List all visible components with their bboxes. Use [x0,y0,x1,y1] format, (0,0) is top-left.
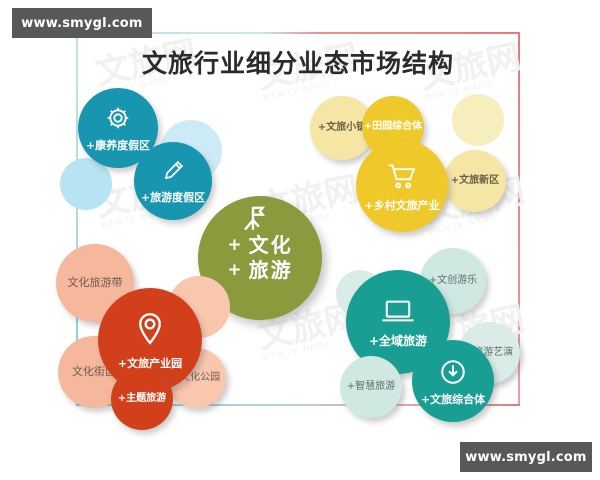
bubble-label: 文化旅游带 [68,277,123,289]
bubble-label: +康养度假区 [86,140,150,152]
bubble-label: +智慧旅游 [347,382,395,393]
hub-label-2: 旅游 [249,258,293,283]
url-badge-bottom-right: www.smygl.com [460,442,592,472]
bubble-label: +文旅小镇 [318,123,366,134]
bubble-zhuti-lvyou[interactable]: +主题旅游 [111,368,173,430]
location-pin-icon [133,311,167,354]
bubble-label: +文旅产业园 [118,358,182,370]
url-badge-top-left: www.smygl.com [12,8,152,38]
gear-icon [104,104,132,137]
bubble-lvyou-dujiaqu[interactable]: +旅游度假区 [134,142,212,220]
url-badge-text: www.smygl.com [465,450,586,465]
page-title: 文旅行业细分业态市场结构 [76,44,520,80]
bubble-zhihui-lvyou[interactable]: +智慧旅游 [340,356,402,418]
bubble-label: +主题旅游 [118,394,166,405]
infographic-stage: 文旅网WEN LV WANG 文旅网WEN LV WANG 文旅网WEN LV … [0,0,600,480]
bubble-label: +文创游乐 [429,276,477,287]
bubble-label: +全域旅游 [369,335,427,348]
download-clock-icon [438,357,468,392]
bubble-yellow-accent [452,94,504,146]
url-badge-text: www.smygl.com [21,16,142,31]
hub-text-block: + 文化 + 旅游 [227,233,292,283]
bubble-xiangcun-wenlv-chanye[interactable]: +乡村文旅产业 [356,140,448,232]
bubble-label: +旅游度假区 [141,192,205,204]
bubble-label: +田园综合体 [364,122,422,133]
bubble-label: +乡村文旅产业 [364,200,439,212]
bubble-label: +文旅综合体 [421,394,485,406]
cart-icon [385,161,419,196]
flag-mountain-icon [241,203,273,240]
hub-plus-2: + [227,260,243,281]
pen-icon [160,158,186,189]
hub-line-2: + 旅游 [227,258,292,283]
bubble-wenlv-xinqu[interactable]: +文旅新区 [444,150,506,212]
bubble-label: +文旅新区 [451,176,499,187]
bubble-wenlv-zongheti[interactable]: +文旅综合体 [412,340,494,422]
laptop-icon [379,296,417,331]
